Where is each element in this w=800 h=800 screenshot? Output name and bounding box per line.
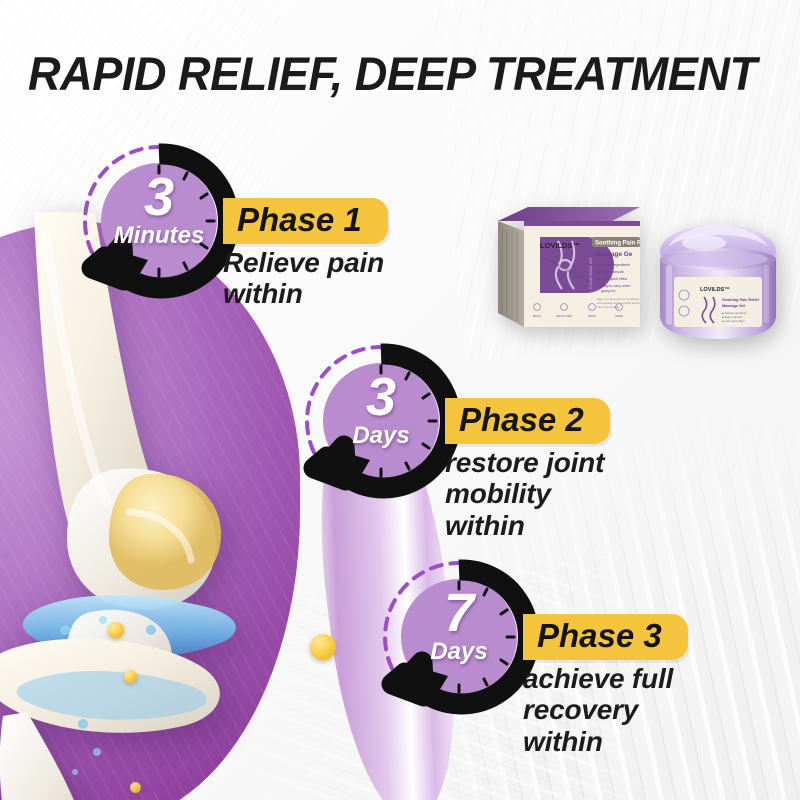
phase-ribbon-2: Phase 2	[445, 398, 610, 444]
box-product-title: Soothing Pain R	[595, 241, 640, 247]
particle-accent	[130, 782, 141, 793]
svg-text:Apply a small amount to the af: Apply a small amount to the affected are…	[597, 297, 640, 301]
svg-text:and massage until completely a: and massage until completely absorbed.	[597, 301, 640, 305]
product-jar: LOVILDS™ Soothing Pain Relief Massage Ge…	[652, 219, 784, 343]
phase-description-1: Relieve pain within	[223, 247, 388, 310]
box-bullet: ◆ Easy to carry when	[597, 284, 630, 288]
box-vertical-text: PLEASE ENJOY LIFE	[589, 258, 593, 289]
phase-text-1: Phase 1 Relieve pain within	[223, 198, 388, 310]
phase-text-3: Phase 3 achieve full recovery within	[523, 614, 688, 757]
box-icon-label: NECK	[588, 314, 596, 318]
product-box: LOVILDS™ MILD FORMULA PAIN RELIEF GEL PL…	[488, 203, 640, 331]
particle-accent	[310, 634, 336, 660]
jar-label-subtitle: Massage Gel	[722, 304, 745, 308]
timer-badge-2: 3 Days	[300, 340, 462, 502]
timer-badge-3: 7 Days	[378, 556, 540, 718]
particle-accent	[108, 622, 124, 638]
phase-text-2: Phase 2 restore joint mobility within	[445, 398, 610, 541]
box-bullet: ◆ Natural ingredients	[597, 263, 630, 267]
page-title: RAPID RELIEF, DEEP TREATMENT	[28, 46, 758, 101]
box-bullet: going out	[601, 289, 615, 293]
phase-ribbon-3: Phase 3	[523, 614, 688, 660]
particle-accent	[124, 670, 137, 683]
product-promo-poster: RAPID RELIEF, DEEP TREATMENT	[0, 0, 800, 800]
phase-description-2: restore joint mobility within	[445, 447, 610, 541]
jar-label-title: Soothing Pain Relief	[722, 298, 760, 302]
box-bullet: ◆ Easy to absorb	[597, 270, 624, 274]
jar-brand: LOVILDS™	[700, 287, 730, 293]
product-shot: LOVILDS™ MILD FORMULA PAIN RELIEF GEL PL…	[480, 195, 800, 360]
timer-badge-1: 3 Minutes	[78, 140, 240, 302]
box-icon-label: KNEE	[615, 314, 623, 318]
svg-text:◆ Natural ingredients: ◆ Natural ingredients	[722, 311, 747, 315]
box-product-subtitle: Massage Ge	[595, 251, 633, 258]
box-icon-label: BACK	[533, 314, 541, 318]
svg-text:◆ more quick effect: ◆ more quick effect	[722, 319, 745, 323]
phase-ribbon-1: Phase 1	[223, 198, 388, 244]
box-icon-label: SHOULDER	[556, 314, 572, 318]
box-brand: LOVILDS™	[540, 241, 580, 250]
box-bullet: ◆ more quick effect	[597, 277, 627, 281]
phase-description-3: achieve full recovery within	[523, 663, 688, 757]
svg-text:◆ Easy to absorb: ◆ Easy to absorb	[722, 315, 743, 319]
svg-text:Use 2-3 times daily.: Use 2-3 times daily.	[597, 305, 620, 309]
